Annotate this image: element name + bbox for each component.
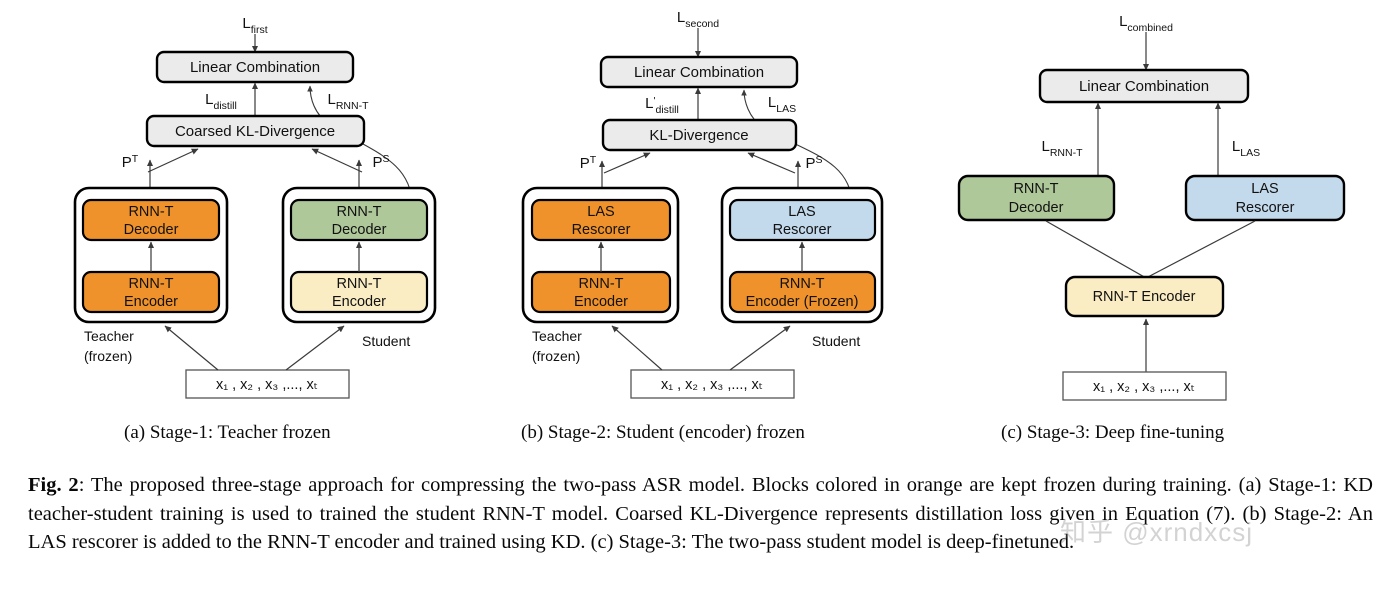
panel-a-input-sequence: x₁ , x₂ , x₃ ,..., xₜ [216, 377, 318, 393]
panel-a-loss-distill: Ldistill [205, 91, 237, 112]
panel-b-student-block-1-line2: Encoder (Frozen) [746, 294, 859, 310]
panel-b-student-block-1-line1: RNN-T [779, 276, 824, 292]
panel-a-teacher-block-0-line2: Decoder [124, 222, 179, 238]
panel-c-las-rescorer-line2: Rescorer [1236, 200, 1295, 216]
panel-a-teacher-role-line2: (frozen) [84, 348, 132, 364]
panel-c-caption: (c) Stage-3: Deep fine-tuning [1001, 422, 1224, 444]
panel-a-prob-teacher: PT [122, 153, 139, 171]
panel-c-input-sequence: x₁ , x₂ , x₃ ,..., xₜ [1093, 379, 1195, 395]
panel-b-teacher-block-0-line1: LAS [587, 204, 614, 220]
figure-caption-prefix: Fig. 2 [28, 474, 79, 496]
panel-b-input-sequence: x₁ , x₂ , x₃ ,..., xₜ [661, 377, 763, 393]
panel-a-teacher-block-1-line1: RNN-T [128, 276, 173, 292]
panel-a-arrow-input-to-teacher [165, 326, 218, 370]
panel-b-arrow-input-to-teacher [612, 326, 662, 370]
panel-a-loss-rnnt: LRNN-T [327, 91, 369, 112]
panel-a-student-block-1-line1: RNN-T [336, 276, 381, 292]
panel-a-arrow-ps-to-kl [312, 149, 362, 172]
panel-c-line-encoder-to-rescorer [1146, 221, 1255, 278]
panel-b-teacher-block-1-line2: Encoder [574, 294, 628, 310]
figure-caption: Fig. 2: The proposed three-stage approac… [28, 471, 1373, 557]
panel-b-prob-student: PS [805, 154, 822, 172]
panel-c-output-loss: Lcombined [1119, 13, 1173, 34]
panel-b-loss-las: LLAS [768, 94, 796, 115]
panel-a-student-block-0-line1: RNN-T [336, 204, 381, 220]
panel-c-rnnt-decoder-line2: Decoder [1009, 200, 1064, 216]
panel-b-arrow-ps-to-kl [748, 153, 795, 173]
panel-a-kl-divergence-label: Coarsed KL-Divergence [175, 123, 335, 140]
panel-b-teacher-role-line1: Teacher [532, 328, 582, 344]
panel-a-student-block-1-line2: Encoder [332, 294, 386, 310]
panel-c-line-encoder-to-decoder [1046, 221, 1146, 278]
panel-a-caption: (a) Stage-1: Teacher frozen [124, 422, 331, 444]
panel-b-prob-teacher: PT [580, 154, 597, 172]
panel-a-output-loss: Lfirst [242, 15, 267, 36]
panel-c-linear-combination-label: Linear Combination [1079, 78, 1209, 95]
panel-a-teacher-block-1-line2: Encoder [124, 294, 178, 310]
figure-page: Lfirst Linear Combination Ldistill LRNN-… [0, 0, 1396, 608]
panel-b-kl-divergence-label: KL-Divergence [649, 127, 748, 144]
figure-caption-body: : The proposed three-stage approach for … [28, 474, 1373, 553]
panel-a-arrow-pt-to-kl [148, 149, 198, 172]
panel-a-student-role-line1: Student [362, 333, 410, 349]
panel-b-output-loss: Lsecond [677, 9, 719, 30]
panel-c-loss-rnnt: LRNN-T [1041, 138, 1083, 159]
panel-b-teacher-role-line2: (frozen) [532, 348, 580, 364]
panel-a-prob-student: PS [372, 153, 389, 171]
panel-b: Lsecond Linear Combination L'distill LLA… [523, 9, 882, 398]
panel-c-loss-las: LLAS [1232, 138, 1260, 159]
panel-c: Lcombined Linear Combination LRNN-T LLAS… [959, 13, 1344, 400]
panel-c-rnnt-decoder-line1: RNN-T [1013, 181, 1058, 197]
panel-b-arrow-pt-to-kl [604, 153, 650, 173]
panel-c-las-rescorer-line1: LAS [1251, 181, 1278, 197]
panel-a-student-block-0-line2: Decoder [332, 222, 387, 238]
panel-a: Lfirst Linear Combination Ldistill LRNN-… [75, 15, 435, 398]
panel-b-teacher-block-0-line2: Rescorer [572, 222, 631, 238]
three-stage-diagram: Lfirst Linear Combination Ldistill LRNN-… [0, 0, 1396, 460]
panel-a-linear-combination-label: Linear Combination [190, 59, 320, 76]
panel-b-teacher-block-1-line1: RNN-T [578, 276, 623, 292]
panel-b-linear-combination-label: Linear Combination [634, 64, 764, 81]
panel-c-rnnt-encoder-label: RNN-T Encoder [1093, 289, 1196, 305]
panel-b-student-block-0-line2: Rescorer [773, 222, 832, 238]
panel-b-loss-distill: L'distill [645, 95, 679, 116]
panel-b-student-block-0-line1: LAS [788, 204, 815, 220]
panel-a-teacher-block-0-line1: RNN-T [128, 204, 173, 220]
panel-a-arrow-input-to-student [286, 326, 344, 370]
panel-a-teacher-role-line1: Teacher [84, 328, 134, 344]
panel-b-arrow-input-to-student [730, 326, 790, 370]
panel-b-caption: (b) Stage-2: Student (encoder) frozen [521, 422, 805, 444]
panel-b-student-role-line1: Student [812, 333, 860, 349]
